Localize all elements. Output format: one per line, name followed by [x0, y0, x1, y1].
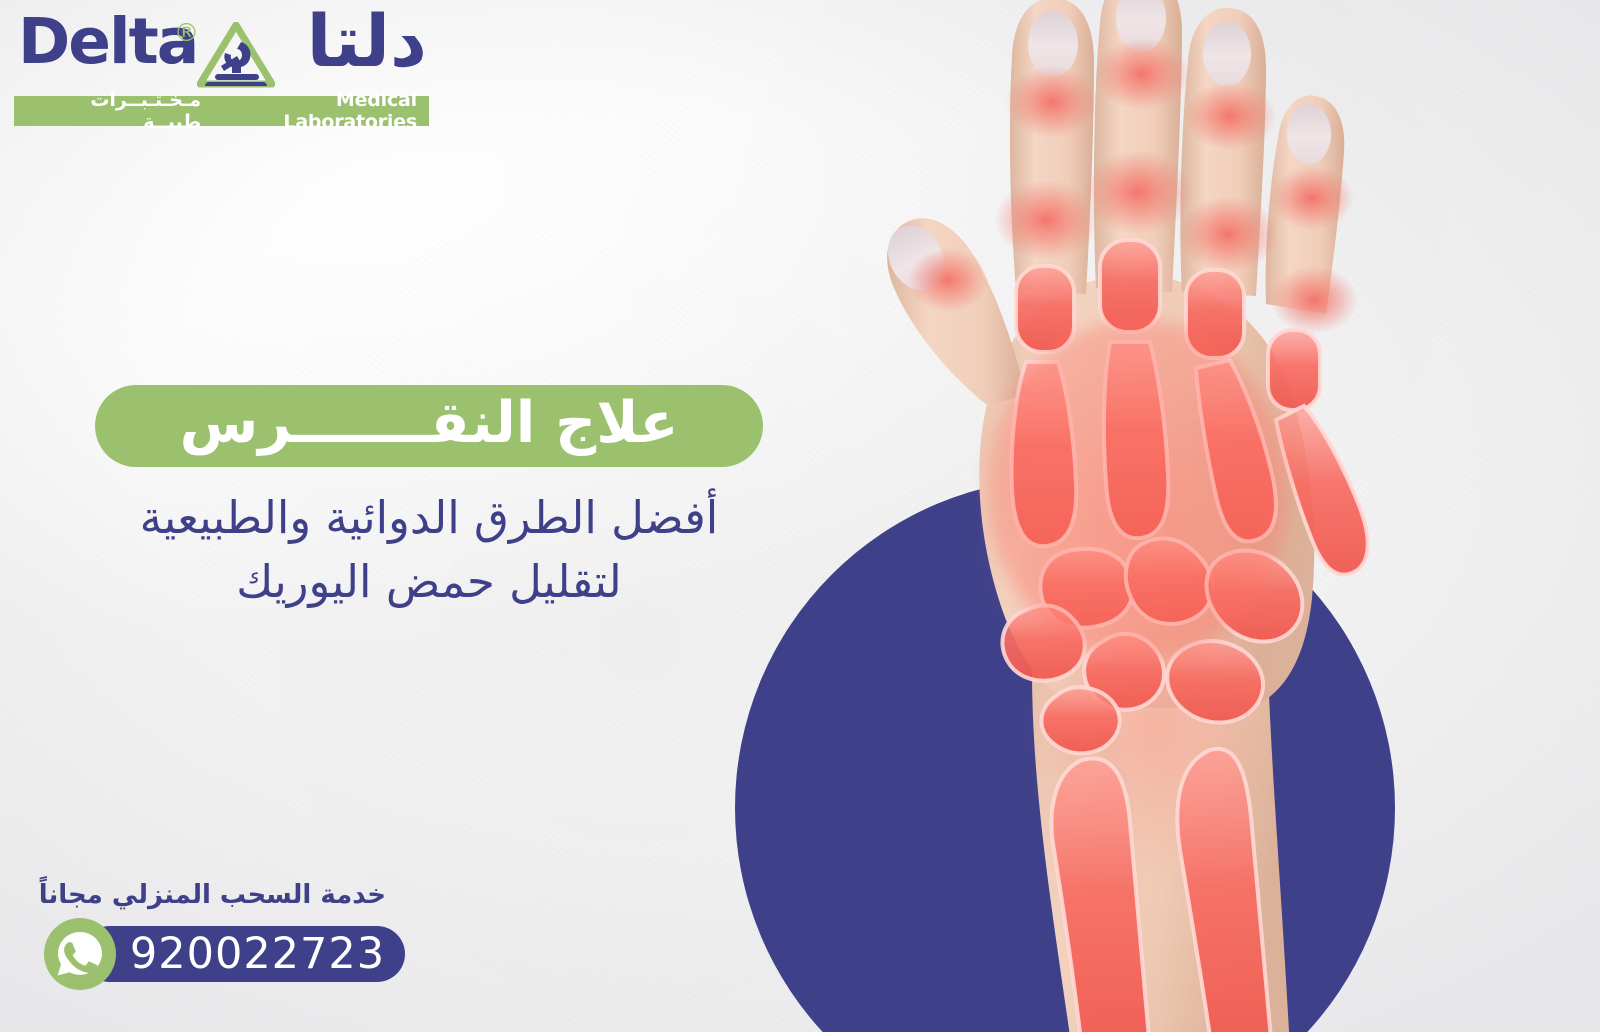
hand-illustration: [820, 0, 1520, 1032]
logo-tagline-ar: مـخـتـبــرات طبيــة: [30, 89, 201, 133]
phone-number-pill[interactable]: 920022723: [82, 926, 405, 982]
logo-wordmarks: Delta ® دلتا: [14, 14, 429, 94]
home-service-note: خدمة السحب المنزلي مجاناً: [39, 880, 386, 910]
logo-wordmark-en: Delta: [18, 10, 197, 73]
registered-trademark-icon: ®: [174, 20, 199, 45]
page-title: علاج النقـــــــرس: [180, 395, 679, 452]
phone-number: 920022723: [130, 933, 385, 976]
microscope-in-triangle-icon: [197, 22, 275, 92]
contact-block: خدمة السحب المنزلي مجاناً 920022723: [22, 880, 402, 1010]
brand-logo[interactable]: Delta ® دلتا Medical Laboratories مـخـتـ…: [14, 14, 429, 126]
subtitle-line-1: أفضل الطرق الدوائية والطبيعية: [95, 486, 763, 550]
headline-pill: علاج النقـــــــرس: [95, 385, 763, 467]
poster-canvas: Delta ® دلتا Medical Laboratories مـخـتـ…: [0, 0, 1600, 1032]
subtitle-block: أفضل الطرق الدوائية والطبيعية لتقليل حمض…: [95, 486, 763, 614]
logo-wordmark-ar: دلتا: [307, 2, 427, 81]
logo-tagline-en: Medical Laboratories: [201, 89, 417, 133]
whatsapp-icon[interactable]: [44, 918, 116, 990]
subtitle-line-2: لتقليل حمض اليوريك: [95, 550, 763, 614]
logo-tagline-bar: Medical Laboratories مـخـتـبــرات طبيــة: [14, 96, 429, 126]
